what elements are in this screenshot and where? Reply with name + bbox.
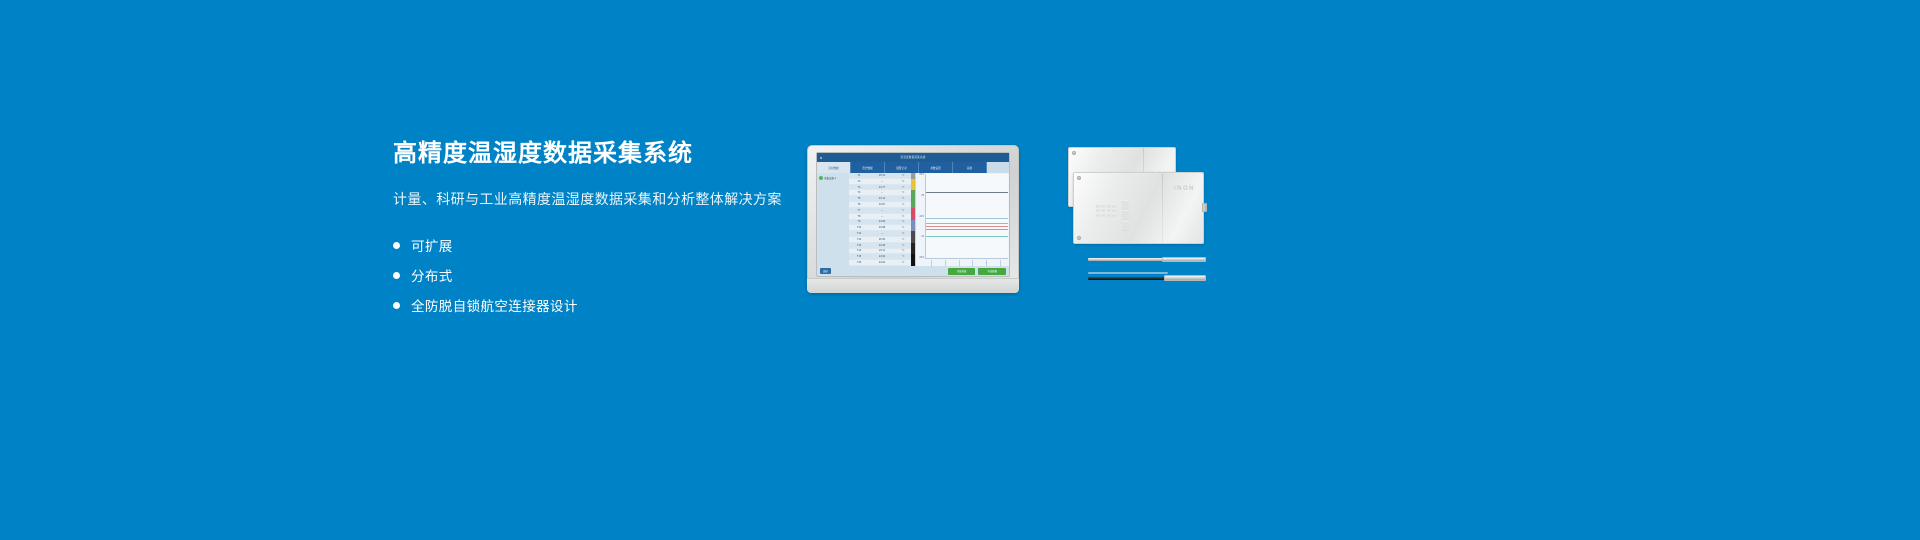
feature-label: 可扩展 — [411, 235, 453, 255]
channel-id: T12 — [849, 238, 869, 241]
channel-value: 24.94 — [869, 261, 895, 264]
channel-value: -- — [869, 209, 895, 212]
channel-unit: ℃ — [895, 180, 911, 183]
screw-icon — [1077, 176, 1081, 180]
device-online-icon — [819, 176, 823, 180]
tab-settings[interactable]: 参数设置 — [919, 162, 953, 173]
channel-value: 25.90 — [869, 238, 895, 241]
export-data-button[interactable]: 导出数据 — [978, 268, 1006, 275]
channel-value: 24.87 — [869, 203, 895, 206]
x-axis-tick: 10:50 — [1000, 259, 1002, 266]
app-body: 采集设备-1 T125.31℃T2--℃T324.77℃T4--℃T524.12… — [817, 173, 1009, 266]
channel-value: 24.12 — [869, 197, 895, 200]
hero-text-block: 高精度温湿度数据采集系统 计量、科研与工业高精度温湿度数据采集和分析整体解决方案… — [393, 140, 793, 321]
channel-id: T8 — [849, 215, 869, 218]
channel-unit: ℃ — [895, 191, 911, 194]
channel-value: 24.11 — [869, 249, 895, 252]
channel-value: -- — [869, 180, 895, 183]
channel-unit: ℃ — [895, 255, 911, 258]
channel-value: 24.28 — [869, 244, 895, 247]
feature-label: 全防脱自锁航空连接器设计 — [411, 295, 578, 315]
channel-unit: ℃ — [895, 174, 911, 177]
list-item: 全防脱自锁航空连接器设计 — [393, 291, 793, 320]
channel-id: T1 — [849, 174, 869, 177]
bullet-dot-icon — [393, 242, 400, 249]
channel-id: T4 — [849, 191, 869, 194]
channel-unit: ℃ — [895, 261, 911, 264]
channel-id: T11 — [849, 232, 869, 235]
chart-series-line — [926, 229, 1008, 230]
brand-label: INON — [1174, 186, 1195, 192]
chart-y-axis: 25.52524.52423.5 — [916, 173, 925, 259]
channel-id: T15 — [849, 255, 869, 258]
y-axis-tick: 24.5 — [919, 215, 924, 218]
x-axis-tick: 10:10 — [945, 259, 947, 266]
start-acquisition-button[interactable]: 开始采集 — [948, 268, 976, 275]
channel-id: T5 — [849, 197, 869, 200]
sidebar-item-device-1[interactable]: 采集设备-1 — [819, 176, 847, 180]
channel-id: T3 — [849, 186, 869, 189]
connect-button[interactable]: 连接 — [820, 268, 831, 274]
app-window-title: 温湿度数据采集系统 — [817, 153, 1009, 162]
channel-id: T7 — [849, 209, 869, 212]
chart-series-line — [926, 218, 1008, 219]
channel-unit: ℃ — [895, 238, 911, 241]
device-tree-panel: 采集设备-1 — [817, 173, 849, 266]
tab-history-data[interactable]: 历史数据 — [851, 162, 885, 173]
y-axis-tick: 25.5 — [919, 173, 924, 176]
channel-unit: ℃ — [895, 215, 911, 218]
module-seam — [1162, 173, 1163, 243]
x-axis-tick: 10:20 — [959, 259, 961, 266]
app-footer-toolbar: 连接 开始采集 导出数据 — [817, 266, 1009, 276]
list-item: 分布式 — [393, 261, 793, 290]
channel-unit: ℃ — [895, 232, 911, 235]
feature-list: 可扩展 分布式 全防脱自锁航空连接器设计 — [393, 231, 793, 320]
terminal-block-emboss — [1096, 204, 1116, 216]
channel-value: 24.90 — [869, 255, 895, 258]
connector-emboss — [1122, 200, 1129, 230]
page-title: 高精度温湿度数据采集系统 — [393, 140, 793, 169]
channel-unit: ℃ — [895, 220, 911, 223]
channel-id: T9 — [849, 220, 869, 223]
probe-cable-thin — [1088, 272, 1168, 274]
channel-value: 25.31 — [869, 174, 895, 177]
app-tab-bar: 实时数据 历史数据 报警记录 参数设置 系统 — [817, 162, 1009, 173]
probe-tip — [1162, 257, 1206, 262]
chart-series-line — [926, 192, 1008, 193]
channel-id: T6 — [849, 203, 869, 206]
channel-value: 24.77 — [869, 186, 895, 189]
monitor-inner-frame: 温湿度数据采集系统 实时数据 历史数据 报警记录 参数设置 系统 采集设备-1 … — [816, 152, 1010, 277]
channel-unit: ℃ — [895, 209, 911, 212]
channel-value: 24.88 — [869, 226, 895, 229]
app-titlebar: 温湿度数据采集系统 — [817, 153, 1009, 162]
tree-node-label: 采集设备-1 — [824, 176, 836, 180]
tab-alarm-log[interactable]: 报警记录 — [885, 162, 919, 173]
product-monitor-image: 温湿度数据采集系统 实时数据 历史数据 报警记录 参数设置 系统 采集设备-1 … — [807, 145, 1019, 293]
chart-plot-area — [925, 174, 1008, 259]
y-axis-tick: 23.5 — [919, 256, 924, 259]
channel-value: 24.96 — [869, 220, 895, 223]
humidity-probe — [1088, 271, 1206, 281]
feature-label: 分布式 — [411, 265, 453, 285]
acquisition-module-front: INON — [1073, 172, 1204, 244]
channel-unit: ℃ — [895, 244, 911, 247]
chart-series-line — [926, 236, 1008, 237]
probe-stem — [1088, 258, 1164, 261]
chart-series-line — [926, 226, 1008, 227]
bullet-dot-icon — [393, 302, 400, 309]
channel-unit: ℃ — [895, 226, 911, 229]
hardware-product-image: INON INON — [1064, 143, 1204, 298]
channel-id: T13 — [849, 244, 869, 247]
channel-unit: ℃ — [895, 203, 911, 206]
x-axis-tick: 10:40 — [986, 259, 988, 266]
channel-id: T14 — [849, 249, 869, 252]
probe-connector — [1164, 275, 1206, 281]
x-axis-tick: 10:30 — [972, 259, 974, 266]
y-axis-tick: 24 — [921, 235, 924, 238]
channel-data-table[interactable]: T125.31℃T2--℃T324.77℃T4--℃T524.12℃T624.8… — [849, 173, 911, 266]
tab-system[interactable]: 系统 — [953, 162, 987, 173]
channel-value: -- — [869, 215, 895, 218]
module-port — [1202, 203, 1207, 212]
monitor-stand-base — [807, 278, 1019, 293]
screw-icon — [1077, 236, 1081, 240]
channel-id: T10 — [849, 226, 869, 229]
channel-id: T16 — [849, 261, 869, 264]
probe-cable-thick — [1088, 277, 1166, 280]
bullet-dot-icon — [393, 272, 400, 279]
realtime-chart: 25.52524.52423.5 10:0010:1010:2010:3010:… — [915, 173, 1009, 266]
temperature-probe — [1088, 256, 1206, 262]
channel-id: T2 — [849, 180, 869, 183]
chart-series-line — [926, 223, 1008, 224]
channel-value: -- — [869, 232, 895, 235]
channel-unit: ℃ — [895, 186, 911, 189]
monitor-screen: 温湿度数据采集系统 实时数据 历史数据 报警记录 参数设置 系统 采集设备-1 … — [817, 153, 1009, 276]
channel-unit: ℃ — [895, 249, 911, 252]
channel-value: -- — [869, 191, 895, 194]
y-axis-tick: 25 — [921, 194, 924, 197]
chart-x-axis: 10:0010:1010:2010:3010:4010:50 — [925, 259, 1008, 266]
tab-realtime-data[interactable]: 实时数据 — [817, 162, 851, 173]
channel-unit: ℃ — [895, 197, 911, 200]
x-axis-tick: 10:00 — [931, 259, 933, 266]
hero-subtitle: 计量、科研与工业高精度温湿度数据采集和分析整体解决方案 — [393, 189, 793, 209]
screw-icon — [1072, 151, 1076, 155]
list-item: 可扩展 — [393, 231, 793, 260]
